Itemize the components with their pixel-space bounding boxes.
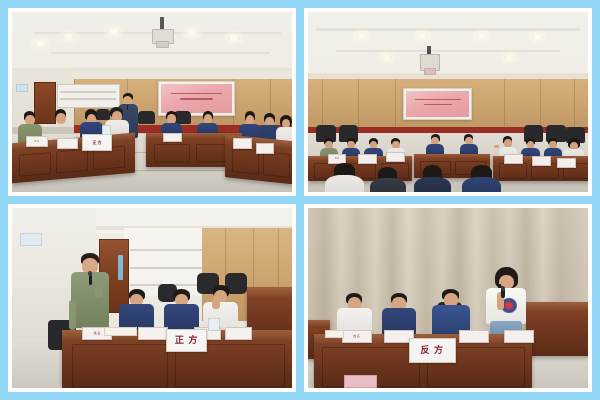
photo-bottom-left: 姓 名 正 方 [12, 208, 292, 388]
affirmative-placard-text: 正 方 [175, 336, 199, 345]
photo-bottom-right: 姓 名 反 方 [308, 208, 588, 388]
nameplate-text: 姓 名 [35, 141, 40, 143]
nameplate: 姓 名 [342, 330, 372, 343]
affirmative-placard-text: 正 方 [92, 141, 101, 145]
photo-panel-top-left[interactable]: 保山海创第二届安全 主题辩论赛 [8, 8, 296, 196]
photo-panel-bottom-right[interactable]: 姓 名 反 方 [304, 204, 592, 392]
affirmative-placard: 正 方 [82, 134, 112, 150]
projection-screen: 保山海创第二届安全 主题辩论赛 [403, 88, 472, 121]
nameplate: 姓 名 [26, 136, 48, 147]
projector-mount [160, 17, 164, 30]
whiteboard [57, 84, 121, 108]
opposing-placard-text: 反 方 [420, 346, 444, 355]
photo-top-right: 保山海创第二届安全 主题辩论赛 [308, 12, 588, 192]
nameplate-text: 姓 名 [335, 158, 340, 160]
photo-panel-bottom-left[interactable]: 姓 名 正 方 [8, 204, 296, 392]
affirmative-placard[interactable]: 正 方 [166, 329, 207, 353]
photo-panel-top-right[interactable]: 保山海创第二届安全 主题辩论赛 [304, 8, 592, 196]
nameplate-text: 姓 名 [353, 335, 360, 338]
nameplate-text: 姓 名 [94, 332, 101, 335]
opposing-placard[interactable]: 反 方 [409, 338, 456, 363]
photo-collage: 保山海创第二届安全 主题辩论赛 [0, 0, 600, 400]
screen-title-line-2: 主题辩论赛 [180, 98, 213, 99]
photo-top-left: 保山海创第二届安全 主题辩论赛 [12, 12, 292, 192]
